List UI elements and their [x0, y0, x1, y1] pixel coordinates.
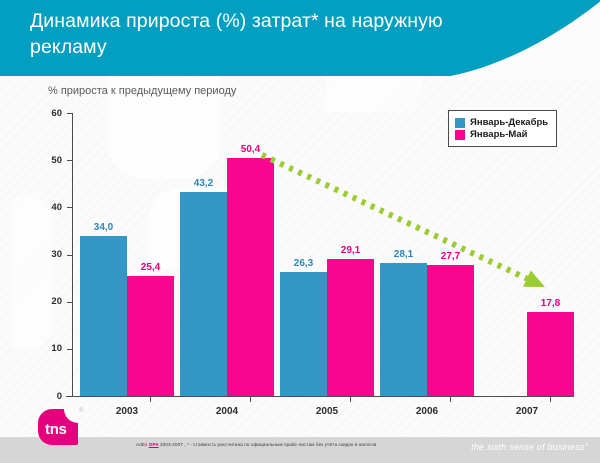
y-axis-tick-label: 60: [22, 113, 62, 114]
footnote-source-link[interactable]: ОРА: [149, 442, 159, 447]
x-axis-tick: [350, 396, 351, 402]
logo-wordmark: tns: [45, 421, 67, 438]
legend-swatch-blue: [455, 118, 465, 128]
bar-value-label: 50,4: [226, 144, 276, 155]
bar-value-label: 26,3: [279, 258, 329, 269]
chart-plot-area: 010203040506020032004200520062007 34,025…: [0, 0, 600, 463]
y-axis-tick: [67, 207, 72, 208]
y-axis-tick-label: 10: [22, 348, 62, 349]
logo-trademark: ®: [79, 408, 83, 414]
x-axis-tick: [550, 396, 551, 402]
x-axis-label: 2005: [287, 406, 367, 417]
bar-value-label: 17,8: [526, 298, 576, 309]
x-axis-tick: [450, 396, 451, 402]
bar-value-label: 34,0: [79, 222, 129, 233]
y-axis-tick: [67, 160, 72, 161]
y-axis-tick: [67, 302, 72, 303]
legend-label: Январь-Май: [470, 129, 528, 140]
y-axis-tick-label: 50: [22, 160, 62, 161]
chart-legend: Январь-Декабрь Январь-Май: [448, 110, 557, 147]
bar-январь-декабрь-2004[interactable]: [180, 192, 227, 396]
brand-tagline: the sixth sense of business": [471, 442, 588, 452]
x-axis-tick: [250, 396, 251, 402]
y-axis-tick: [67, 255, 72, 256]
footer-bar: AdEx ОРА 2003-2007 , * - стоимость рассч…: [0, 437, 600, 463]
x-axis-label: 2007: [487, 406, 567, 417]
x-axis-line: [66, 396, 574, 397]
y-axis-tick: [67, 113, 72, 114]
bar-январь-май-2005[interactable]: [327, 259, 374, 396]
bar-value-label: 29,1: [326, 245, 376, 256]
bar-январь-май-2003[interactable]: [127, 276, 174, 396]
bar-январь-декабрь-2005[interactable]: [280, 272, 327, 396]
footnote-note: 2003-2007 , * - стоимость рассчитана по …: [160, 442, 376, 447]
y-axis-tick-label: 40: [22, 207, 62, 208]
bar-январь-май-2007[interactable]: [527, 312, 574, 396]
slide-root: Динамика прироста (%) затрат* на наружну…: [0, 0, 600, 463]
bar-январь-май-2006[interactable]: [427, 265, 474, 396]
legend-item[interactable]: Январь-Декабрь: [455, 117, 548, 128]
bar-январь-декабрь-2003[interactable]: [80, 236, 127, 396]
bar-value-label: 28,1: [379, 249, 429, 260]
bar-январь-декабрь-2006[interactable]: [380, 263, 427, 396]
legend-label: Январь-Декабрь: [470, 117, 548, 128]
x-axis-label: 2006: [387, 406, 467, 417]
y-axis-tick: [67, 396, 72, 397]
x-axis-label: 2004: [187, 406, 267, 417]
x-axis-tick: [150, 396, 151, 402]
x-axis-label: 2003: [87, 406, 167, 417]
legend-swatch-pink: [455, 130, 465, 140]
legend-item[interactable]: Январь-Май: [455, 129, 548, 140]
y-axis-tick-label: 20: [22, 301, 62, 302]
bar-январь-май-2004[interactable]: [227, 158, 274, 396]
bar-value-label: 43,2: [179, 178, 229, 189]
y-axis-tick-label: 0: [22, 396, 62, 397]
bar-value-label: 25,4: [126, 262, 176, 273]
y-axis-line: [72, 113, 73, 397]
bar-value-label: 27,7: [426, 251, 476, 262]
footnote-prefix: AdEx: [136, 442, 147, 447]
source-footnote: AdEx ОРА 2003-2007 , * - стоимость рассч…: [136, 442, 376, 447]
tns-logo: tns ®: [38, 409, 84, 449]
y-axis-tick: [67, 349, 72, 350]
y-axis-tick-label: 30: [22, 254, 62, 255]
